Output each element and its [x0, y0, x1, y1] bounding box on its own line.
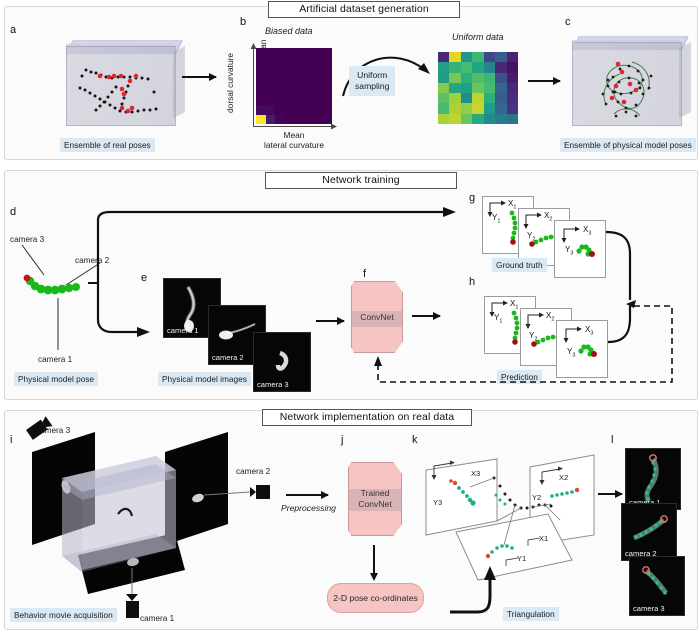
heatmap-cell [275, 77, 285, 87]
uniform-sampling-line1: Uniform [355, 70, 389, 81]
biased-xlabel-line2: lateral curvature [246, 140, 342, 150]
heatmap-cell [266, 115, 276, 125]
result-image-camera-3: camera 3 [629, 556, 685, 616]
heatmap-cell [313, 77, 323, 87]
heatmap-cell [449, 52, 460, 62]
heatmap-cell [285, 67, 295, 77]
heatmap-cell [266, 48, 276, 58]
preprocessing-label: Preprocessing [281, 503, 336, 513]
heatmap-cell [484, 83, 495, 93]
gt-card-1-xlabel: X1 [508, 199, 516, 211]
heatmap-cell [507, 103, 518, 113]
heatmap-cell [495, 62, 506, 72]
biased-y-axis [253, 46, 254, 126]
heatmap-cell [313, 105, 323, 115]
panel-letter-f: f [363, 268, 366, 280]
panel-i-camera3-label: camera 3 [36, 426, 70, 436]
panel-letter-k: k [412, 434, 418, 446]
panel-h-caption: Prediction [497, 370, 542, 384]
model-image-camera-2-label: camera 2 [212, 353, 244, 362]
model-image-camera-3: camera 3 [253, 332, 311, 392]
triangulation-x2-label: X2 [559, 473, 568, 482]
heatmap-cell [294, 96, 304, 106]
heatmap-cell [285, 96, 295, 106]
triangulation-y3-label: Y3 [433, 498, 442, 507]
panel-i-caption: Behavior movie acquisition [10, 608, 117, 622]
uniform-data-heatmap [438, 52, 518, 124]
heatmap-cell [313, 86, 323, 96]
heatmap-cell [285, 86, 295, 96]
panel-k-caption: Triangulation [503, 607, 559, 621]
heatmap-cell [323, 105, 333, 115]
triangulation-y2-label: Y2 [532, 493, 541, 502]
panel-d-camera2-label: camera 2 [75, 256, 109, 266]
heatmap-cell [449, 114, 460, 124]
heatmap-cell [285, 105, 295, 115]
result-image-camera-3-label: camera 3 [633, 604, 665, 613]
heatmap-cell [438, 83, 449, 93]
heatmap-cell [461, 114, 472, 124]
heatmap-cell [275, 115, 285, 125]
heatmap-cell [495, 114, 506, 124]
heatmap-cell [266, 96, 276, 106]
trained-convnet-block: Trained ConvNet [348, 462, 402, 536]
arrow-e-to-f [316, 320, 344, 322]
heatmap-cell [285, 48, 295, 58]
heatmap-cell [275, 48, 285, 58]
heatmap-cell [507, 73, 518, 83]
arrow-f-to-output [412, 315, 440, 317]
heatmap-cell [304, 48, 314, 58]
panel-letter-j: j [341, 434, 343, 446]
heatmap-cell [304, 96, 314, 106]
heatmap-cell [256, 48, 266, 58]
heatmap-cell [323, 58, 333, 68]
heatmap-cell [461, 83, 472, 93]
heatmap-cell [484, 62, 495, 72]
heatmap-cell [313, 115, 323, 125]
heatmap-cell [256, 58, 266, 68]
heatmap-cell [461, 73, 472, 83]
panel-letter-d: d [10, 206, 16, 218]
gt-card-2-xlabel: X2 [544, 211, 552, 223]
pose-coordinates-pill: 2-D pose co-ordinates [327, 583, 424, 613]
heatmap-cell [438, 52, 449, 62]
panel-d-camera3-label: camera 3 [10, 235, 44, 245]
biased-x-axis [253, 126, 333, 127]
heatmap-cell [266, 58, 276, 68]
panel-letter-h: h [469, 276, 475, 288]
panel-e-caption: Physical model images [158, 372, 251, 386]
arrow-a-to-b [182, 76, 216, 78]
heatmap-cell [449, 103, 460, 113]
heatmap-cell [304, 67, 314, 77]
heatmap-cell [304, 105, 314, 115]
heatmap-cell [507, 93, 518, 103]
pred-card-3-content [557, 321, 607, 377]
heatmap-cell [285, 77, 295, 87]
model-image-camera-3-label: camera 3 [257, 380, 289, 389]
heatmap-cell [275, 105, 285, 115]
panel-letter-i: i [10, 434, 12, 446]
uniform-sampling-line2: sampling [355, 81, 389, 92]
heatmap-cell [461, 62, 472, 72]
heatmap-cell [266, 86, 276, 96]
heatmap-cell [507, 62, 518, 72]
pred-card-2-xlabel: X2 [546, 311, 554, 323]
panel-i-camera1-label: camera 1 [140, 614, 174, 624]
panel-letter-g: g [469, 192, 475, 204]
heatmap-cell [472, 62, 483, 72]
heatmap-cell [323, 77, 333, 87]
heatmap-cell [304, 115, 314, 125]
heatmap-cell [484, 73, 495, 83]
biased-data-heatmap [256, 48, 332, 124]
heatmap-cell [294, 105, 304, 115]
heatmap-cell [495, 83, 506, 93]
heatmap-cell [484, 93, 495, 103]
heatmap-cell [438, 73, 449, 83]
section-title-artificial-dataset-generation: Artificial dataset generation [268, 1, 460, 18]
heatmap-cell [484, 52, 495, 62]
heatmap-cell [438, 114, 449, 124]
heatmap-cell [484, 103, 495, 113]
heatmap-cell [266, 67, 276, 77]
heatmap-cell [472, 83, 483, 93]
triangulation-y1-label: Y1 [517, 554, 526, 563]
heatmap-cell [313, 58, 323, 68]
heatmap-cell [275, 86, 285, 96]
pred-card-3-xlabel: X3 [585, 325, 593, 337]
heatmap-cell [449, 83, 460, 93]
gt-card-2-ylabel: Y2 [527, 231, 535, 243]
panel-c-cube [572, 28, 680, 132]
heatmap-cell [294, 115, 304, 125]
heatmap-cell [256, 77, 266, 87]
heatmap-cell [323, 86, 333, 96]
ground-truth-card-3: X3 Y3 [554, 220, 606, 278]
uniform-sampling-label: Uniform sampling [349, 66, 395, 96]
panel-letter-c: c [565, 16, 571, 28]
physical-model-poses-scatter [572, 28, 680, 132]
heatmap-cell [294, 86, 304, 96]
gt-card-3-xlabel: X3 [583, 225, 591, 237]
biased-xlabel-line1: Mean [246, 130, 342, 140]
arrow-i-to-j [286, 494, 328, 496]
pred-card-1-ylabel: Y1 [494, 313, 502, 325]
uniform-data-title: Uniform data [452, 32, 504, 42]
heatmap-cell [495, 73, 506, 83]
heatmap-cell [285, 115, 295, 125]
section-title-network-implementation: Network implementation on real data [262, 409, 472, 426]
pred-card-1-xlabel: X1 [510, 299, 518, 311]
heatmap-cell [472, 73, 483, 83]
heatmap-cell [323, 96, 333, 106]
heatmap-cell [304, 58, 314, 68]
pred-card-3-ylabel: Y3 [567, 347, 575, 359]
panel-letter-b: b [240, 16, 246, 28]
panel-letter-l: l [611, 434, 613, 446]
heatmap-cell [275, 96, 285, 106]
triangulation-x1-label: X1 [539, 534, 548, 543]
heatmap-cell [304, 86, 314, 96]
panel-a-caption: Ensemble of real poses [60, 138, 155, 152]
heatmap-cell [472, 93, 483, 103]
heatmap-cell [461, 93, 472, 103]
heatmap-cell [507, 114, 518, 124]
panel-letter-a: a [10, 24, 16, 36]
panel-a-cube [66, 32, 174, 132]
gt-card-1-ylabel: Y1 [492, 213, 500, 225]
result-image-camera-1: camera 1 [625, 448, 681, 510]
panel-d-camera1-label: camera 1 [38, 355, 72, 365]
heatmap-cell [256, 96, 266, 106]
heatmap-cell [495, 93, 506, 103]
heatmap-cell [256, 115, 266, 125]
heatmap-cell [438, 103, 449, 113]
heatmap-cell [256, 86, 266, 96]
result-image-camera-2: camera 2 [621, 503, 677, 561]
heatmap-cell [275, 58, 285, 68]
heatmap-cell [313, 48, 323, 58]
arrow-b-to-c [528, 80, 560, 82]
trained-convnet-label-line2: ConvNet [358, 499, 391, 510]
arrow-k-to-l [598, 493, 622, 495]
heatmap-cell [449, 62, 460, 72]
triangulation-x3-label: X3 [471, 469, 480, 478]
heatmap-cell [285, 58, 295, 68]
model-image-camera-1-label: camera 1 [167, 326, 199, 335]
pred-card-2-ylabel: Y2 [529, 331, 537, 343]
gt-card-3-ylabel: Y3 [565, 245, 573, 257]
section-title-network-training: Network training [265, 172, 457, 189]
heatmap-cell [313, 67, 323, 77]
heatmap-cell [507, 83, 518, 93]
prediction-card-3: X3 Y3 [556, 320, 608, 378]
heatmap-cell [472, 103, 483, 113]
heatmap-cell [484, 114, 495, 124]
heatmap-cell [472, 52, 483, 62]
panel-letter-e: e [141, 272, 147, 284]
heatmap-cell [507, 52, 518, 62]
heatmap-cell [304, 77, 314, 87]
heatmap-cell [495, 52, 506, 62]
heatmap-cell [323, 67, 333, 77]
heatmap-cell [275, 67, 285, 77]
convnet-block: ConvNet [351, 281, 403, 353]
gt-card-3-content [555, 221, 605, 277]
heatmap-cell [266, 105, 276, 115]
panel-c-caption: Ensemble of physical model poses [560, 138, 696, 152]
heatmap-cell [495, 103, 506, 113]
heatmap-cell [461, 52, 472, 62]
panel-d-caption: Physical model pose [14, 372, 98, 386]
heatmap-cell [313, 96, 323, 106]
heatmap-cell [323, 115, 333, 125]
heatmap-cell [449, 73, 460, 83]
real-poses-scatter [66, 32, 174, 132]
arrow-j-to-output [373, 545, 375, 573]
heatmap-cell [438, 93, 449, 103]
heatmap-cell [461, 103, 472, 113]
heatmap-cell [449, 93, 460, 103]
heatmap-cell [266, 77, 276, 87]
heatmap-cell [256, 105, 266, 115]
heatmap-cell [256, 67, 266, 77]
heatmap-cell [294, 67, 304, 77]
biased-data-title: Biased data [265, 26, 313, 36]
trained-convnet-label-line1: Trained [361, 488, 390, 499]
panel-i-camera2-label: camera 2 [236, 467, 270, 477]
heatmap-cell [472, 114, 483, 124]
convnet-label: ConvNet [360, 312, 393, 323]
heatmap-cell [294, 48, 304, 58]
heatmap-cell [294, 77, 304, 87]
heatmap-cell [294, 58, 304, 68]
biased-ylabel-line2: dorsal curvature [225, 61, 235, 113]
figure-root: Artificial dataset generation Network tr… [0, 0, 700, 634]
panel-g-caption: Ground truth [492, 258, 547, 272]
heatmap-cell [438, 62, 449, 72]
heatmap-cell [323, 48, 333, 58]
